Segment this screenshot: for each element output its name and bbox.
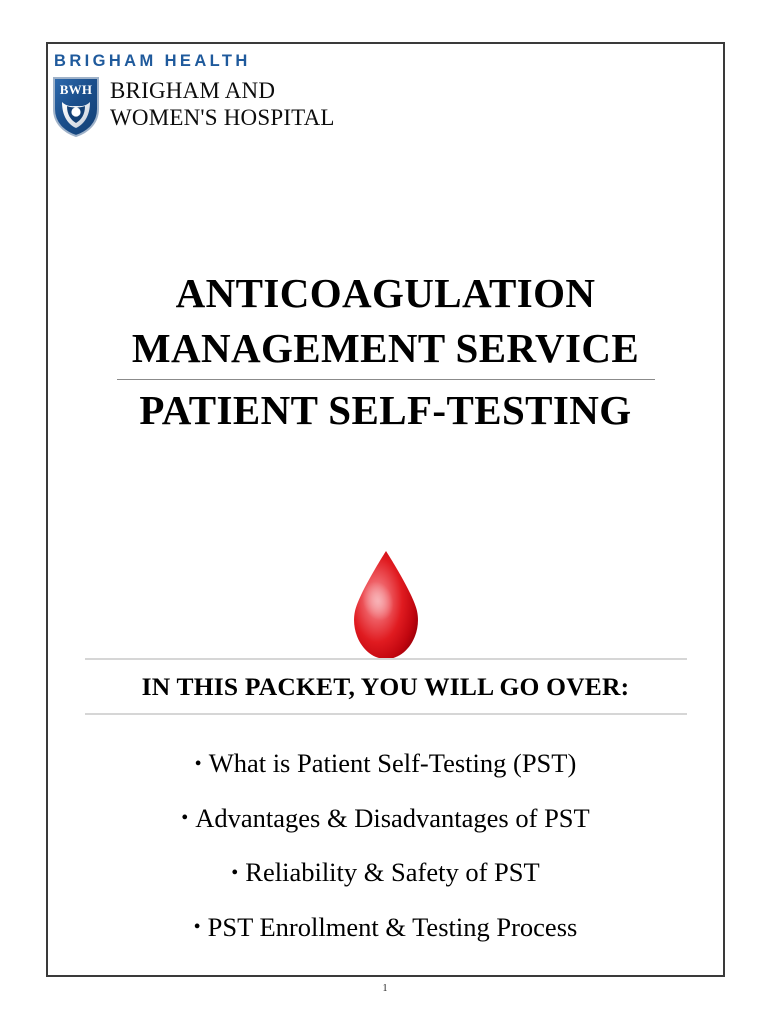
blood-drop-icon xyxy=(347,549,425,566)
packet-heading: IN THIS PACKET, YOU WILL GO OVER: xyxy=(48,660,723,713)
hospital-name-line1: BRIGHAM AND xyxy=(110,78,335,105)
bwh-shield-icon: BWH xyxy=(52,76,100,138)
blood-drop-graphic xyxy=(48,549,723,664)
list-item-label: Advantages & Disadvantages of PST xyxy=(195,803,590,833)
brigham-health-wordmark: BRIGHAM HEALTH xyxy=(52,52,472,70)
brand-lockup: BRIGHAM HEALTH xyxy=(52,52,472,138)
packet-topics-list: •What is Patient Self-Testing (PST) •Adv… xyxy=(48,736,723,954)
svg-text:BWH: BWH xyxy=(60,82,92,97)
title-divider xyxy=(117,379,655,380)
list-item-label: Reliability & Safety of PST xyxy=(245,857,539,887)
list-item: •What is Patient Self-Testing (PST) xyxy=(48,736,723,791)
page-title: ANTICOAGULATION MANAGEMENT SERVICE PATIE… xyxy=(48,266,723,438)
page-number: 1 xyxy=(0,983,770,994)
packet-rule-bottom xyxy=(85,713,687,715)
list-item: •PST Enrollment & Testing Process xyxy=(48,900,723,955)
packet-section: IN THIS PACKET, YOU WILL GO OVER: xyxy=(48,658,723,715)
list-item-label: PST Enrollment & Testing Process xyxy=(208,912,578,942)
title-line-3: PATIENT SELF-TESTING xyxy=(48,383,723,438)
title-line-2: MANAGEMENT SERVICE xyxy=(48,321,723,376)
document-page: BRIGHAM HEALTH xyxy=(46,42,725,977)
list-item: •Reliability & Safety of PST xyxy=(48,845,723,900)
bullet-icon: • xyxy=(181,807,195,829)
list-item: •Advantages & Disadvantages of PST xyxy=(48,791,723,846)
hospital-name-line2: WOMEN'S HOSPITAL xyxy=(110,105,335,132)
bullet-icon: • xyxy=(195,753,209,775)
hospital-name: BRIGHAM AND WOMEN'S HOSPITAL xyxy=(110,78,335,132)
bullet-icon: • xyxy=(194,916,208,938)
list-item-label: What is Patient Self-Testing (PST) xyxy=(209,748,577,778)
title-line-1: ANTICOAGULATION xyxy=(48,266,723,321)
bullet-icon: • xyxy=(231,862,245,884)
